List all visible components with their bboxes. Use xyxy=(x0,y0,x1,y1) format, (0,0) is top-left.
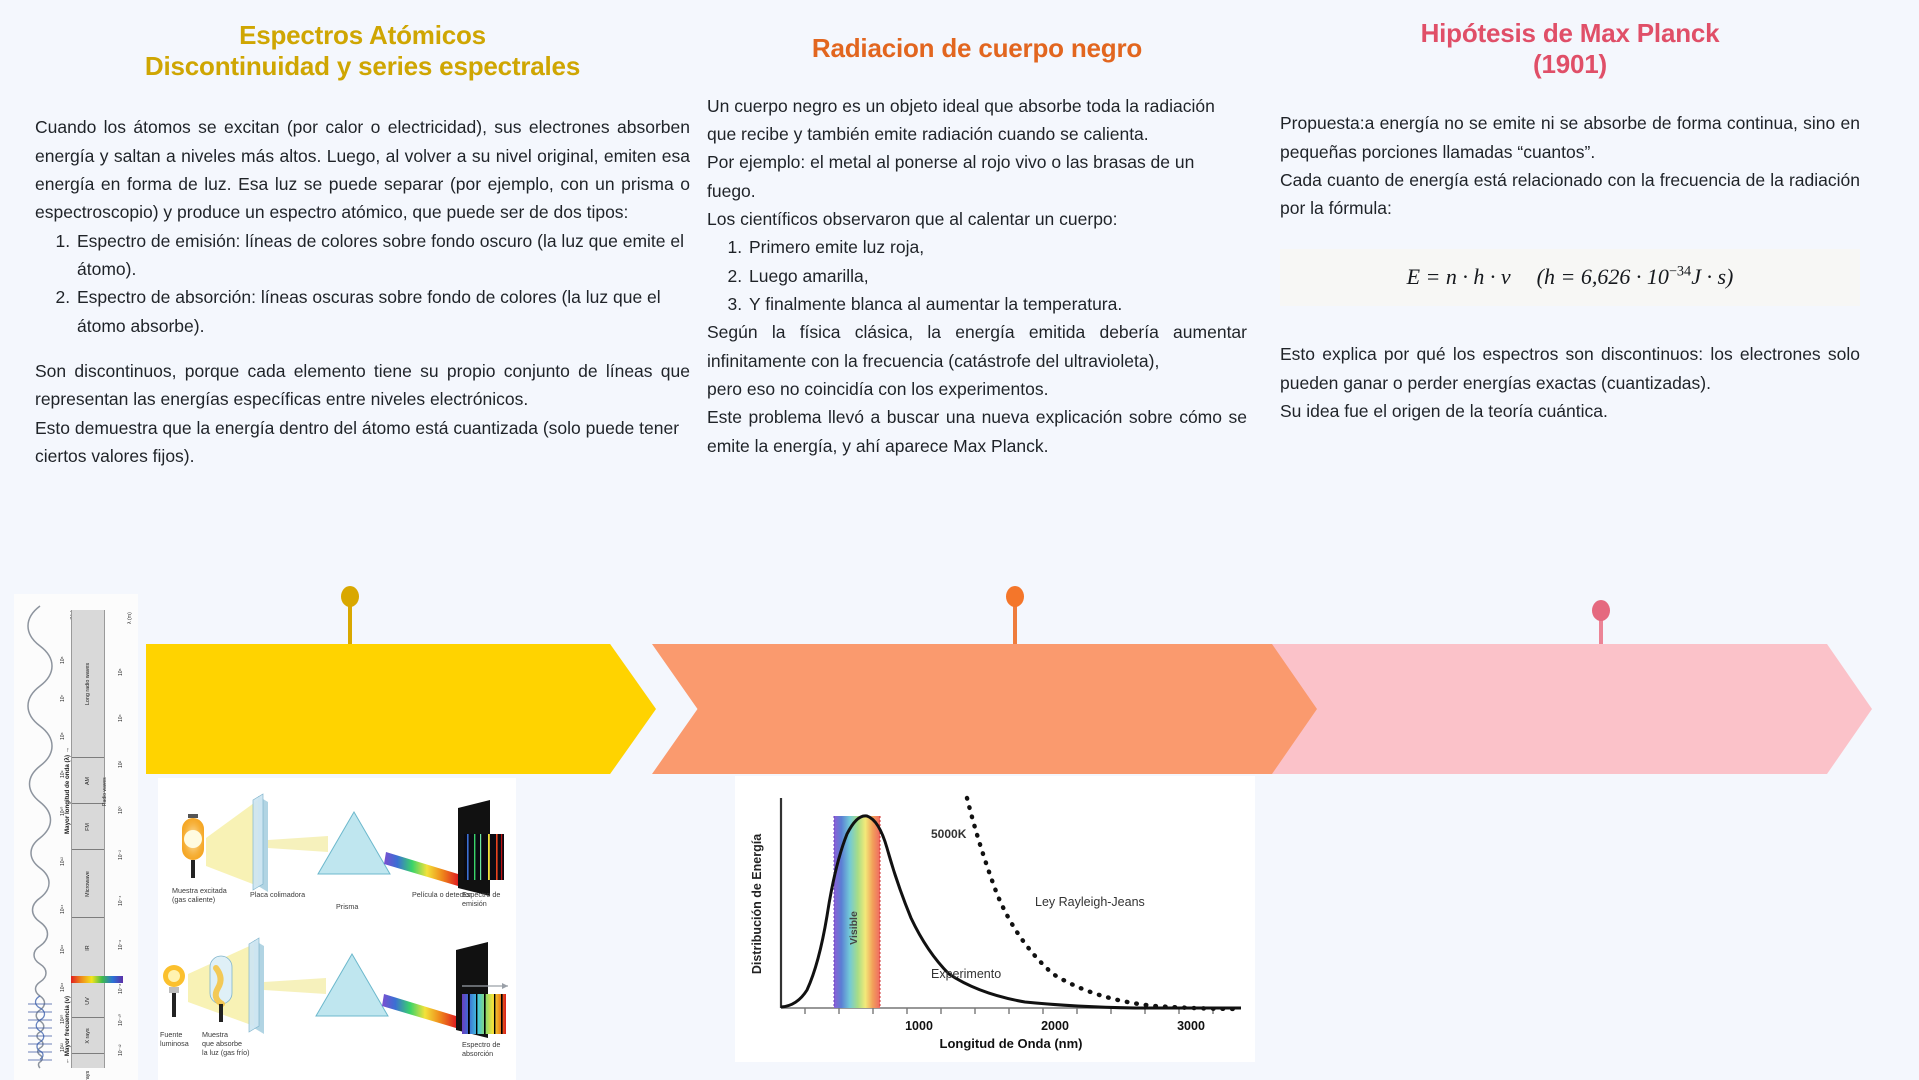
column-1-title-line1: Espectros Atómicos xyxy=(35,20,690,51)
column-1-paragraph-2: Son discontinuos, porque cada elemento t… xyxy=(35,357,690,414)
em-band-microwave: Microwave xyxy=(72,850,104,918)
list-item: Primero emite luz roja, xyxy=(747,233,1247,261)
em-tick-left: 10²⁰ xyxy=(60,1015,66,1024)
column-2-paragraph-6: Este problema llevó a buscar una nueva e… xyxy=(707,403,1247,460)
column-radiacion-cuerpo-negro: Radiacion de cuerpo negro Un cuerpo negr… xyxy=(707,0,1247,460)
column-3-title-line2: (1901) xyxy=(1280,49,1860,80)
em-axis-lambda: λ (m) xyxy=(127,612,133,624)
em-tick-left: 10¹⁸ xyxy=(60,983,66,992)
blackbody-chart-figure: Distribución de Energía Longitud de Onda… xyxy=(735,776,1255,1062)
list-item: Y finalmente blanca al aumentar la tempe… xyxy=(747,290,1247,318)
em-label-frequency: ← Mayor frecuencia (ν) xyxy=(64,996,71,1064)
em-tick-right: 10⁻⁶ xyxy=(118,940,124,950)
em-tick-left: 10⁸ xyxy=(60,732,66,740)
column-3-title: Hipótesis de Max Planck (1901) xyxy=(1280,18,1860,79)
em-band-column: Long radio waves AM FM Microwave IR UV X… xyxy=(71,610,105,1068)
column-3-paragraph-2: Cada cuanto de energía está relacionado … xyxy=(1280,166,1860,223)
list-item: Luego amarilla, xyxy=(747,262,1247,290)
formula-note-exponent: −34 xyxy=(1669,263,1691,279)
em-tick-left: 10¹² xyxy=(60,857,66,866)
chart-annotation-rayleigh: Ley Rayleigh-Jeans xyxy=(1035,895,1145,909)
column-3-paragraph-3: Esto explica por qué los espectros son d… xyxy=(1280,340,1860,397)
column-1-list: Espectro de emisión: líneas de colores s… xyxy=(57,227,690,340)
formula-main: E = n · h · v xyxy=(1407,264,1511,289)
em-tick-left: 10¹⁶ xyxy=(60,945,66,954)
chart-y-axis-label: Distribución de Energía xyxy=(750,833,764,974)
pin-head-icon xyxy=(341,586,359,607)
pin-stem xyxy=(348,596,352,651)
em-band-group-radio: Radio waves xyxy=(102,777,108,806)
column-3-title-line1: Hipótesis de Max Planck xyxy=(1280,18,1860,49)
em-tick-right: 10⁻⁴ xyxy=(118,896,124,906)
em-visible-rainbow xyxy=(71,976,123,983)
label-muestra-absorbe: Muestra que absorbe la luz (gas frío) xyxy=(202,1030,250,1057)
pin-espectros xyxy=(341,586,359,646)
pin-head-icon xyxy=(1592,600,1610,621)
chevron-cuerponegro xyxy=(652,644,1352,774)
column-1-title: Espectros Atómicos Discontinuidad y seri… xyxy=(35,20,690,81)
list-item: Espectro de absorción: líneas oscuras so… xyxy=(75,283,690,340)
em-tick-left: 10⁹ xyxy=(60,770,66,778)
column-hipotesis-max-planck: Hipótesis de Max Planck (1901) Propuesta… xyxy=(1280,0,1860,425)
em-band-long-radio: Long radio waves xyxy=(72,610,104,758)
em-band-am: AM xyxy=(72,758,104,804)
column-2-body: Un cuerpo negro es un objeto ideal que a… xyxy=(707,92,1247,460)
infographic-page: Espectros Atómicos Discontinuidad y seri… xyxy=(0,0,1919,1080)
column-2-paragraph-5: pero eso no coincidía con los experiment… xyxy=(707,375,1247,403)
pin-head-icon xyxy=(1006,586,1024,607)
em-tick-left: 10⁷ xyxy=(60,695,66,702)
chart-x-axis-label: Longitud de Onda (nm) xyxy=(940,1036,1083,1051)
column-2-paragraph-1: Un cuerpo negro es un objeto ideal que a… xyxy=(707,92,1247,149)
planck-formula: E = n · h · v(h = 6,626 · 10−34J · s) xyxy=(1280,249,1860,307)
pin-stem xyxy=(1599,610,1603,656)
spectroscopy-figure: Muestra excitada (gas caliente) Placa co… xyxy=(158,778,516,1080)
blackbody-chart: Distribución de Energía Longitud de Onda… xyxy=(735,776,1255,1062)
column-1-body: Cuando los átomos se excitan (por calor … xyxy=(35,113,690,470)
em-tick-right: 10⁰ xyxy=(118,806,124,814)
chart-annotation-experimento: Experimento xyxy=(931,967,1001,981)
label-muestra-excitada: Muestra excitada (gas caliente) xyxy=(172,886,227,904)
label-placa-colimadora-1: Placa colimadora xyxy=(250,890,305,899)
em-tick-left: 10¹⁰ xyxy=(60,807,66,816)
em-tick-right: 10⁻¹⁰ xyxy=(118,1014,124,1026)
spacer xyxy=(35,340,690,357)
em-band-gamma: γ rays xyxy=(72,1054,104,1080)
column-1-title-line2: Discontinuidad y series espectrales xyxy=(35,51,690,82)
column-2-title: Radiacion de cuerpo negro xyxy=(707,33,1247,64)
column-2-paragraph-4: Según la física clásica, la energía emit… xyxy=(707,318,1247,375)
em-spectrum-figure: Mayor longitud de onda (λ) → ← Mayor fre… xyxy=(14,594,138,1080)
em-band-fm: FM xyxy=(72,804,104,850)
pin-planck xyxy=(1592,600,1610,650)
column-3-paragraph-4: Su idea fue el origen de la teoría cuánt… xyxy=(1280,397,1860,425)
em-tick-left: 10¹⁴ xyxy=(60,905,66,914)
formula-note-suffix: J · s) xyxy=(1691,264,1733,289)
pin-stem xyxy=(1013,596,1017,651)
column-2-paragraph-3: Los científicos observaron que al calent… xyxy=(707,205,1247,233)
column-1-paragraph-1: Cuando los átomos se excitan (por calor … xyxy=(35,113,690,226)
label-espectro-absorcion: Espectro de absorción xyxy=(462,1040,516,1058)
em-tick-right: 10⁴ xyxy=(118,714,124,722)
em-tick-right: 10⁻⁸ xyxy=(118,984,124,994)
em-tick-right: 10⁻² xyxy=(118,850,124,860)
formula-note-prefix: (h = 6,626 · 10 xyxy=(1537,264,1669,289)
em-wave-icon xyxy=(20,604,60,1070)
em-tick-right: 10⁶ xyxy=(118,668,124,676)
chart-xtick: 1000 xyxy=(905,1019,933,1033)
em-tick-right: 10⁻¹² xyxy=(118,1044,124,1056)
em-label-wavelength: Mayor longitud de onda (λ) → xyxy=(64,747,71,834)
label-fuente-luminosa: Fuente luminosa xyxy=(160,1030,189,1048)
column-2-title-line1: Radiacion de cuerpo negro xyxy=(707,33,1247,64)
column-1-paragraph-3: Esto demuestra que la energía dentro del… xyxy=(35,414,690,471)
list-item: Espectro de emisión: líneas de colores s… xyxy=(75,227,690,284)
column-3-body: Propuesta:a energía no se emite ni se ab… xyxy=(1280,109,1860,425)
em-tick-left: 10²² xyxy=(60,1043,66,1052)
chevron-espectros xyxy=(146,644,656,774)
label-prisma: Prisma xyxy=(336,902,358,911)
chart-xtick: 3000 xyxy=(1177,1019,1205,1033)
em-band-ir: IR xyxy=(72,918,104,978)
pin-cuerponegro xyxy=(1006,586,1024,646)
column-2-paragraph-2: Por ejemplo: el metal al ponerse al rojo… xyxy=(707,148,1247,205)
em-band-uv: UV xyxy=(72,984,104,1018)
chevron-planck xyxy=(1272,644,1872,774)
column-3-paragraph-1: Propuesta:a energía no se emite ni se ab… xyxy=(1280,109,1860,166)
chart-xtick: 2000 xyxy=(1041,1019,1069,1033)
chart-annotation-visible: Visible xyxy=(848,911,860,945)
label-espectro-emision: Espectro de emisión xyxy=(462,890,516,908)
em-band-xrays: X rays xyxy=(72,1018,104,1054)
em-tick-right: 10² xyxy=(118,761,124,768)
chart-annotation-5000k: 5000K xyxy=(931,827,967,841)
em-tick-left: 10⁶ xyxy=(60,656,66,664)
column-espectros-atomicos: Espectros Atómicos Discontinuidad y seri… xyxy=(35,0,690,470)
column-2-list: Primero emite luz roja, Luego amarilla, … xyxy=(729,233,1247,318)
